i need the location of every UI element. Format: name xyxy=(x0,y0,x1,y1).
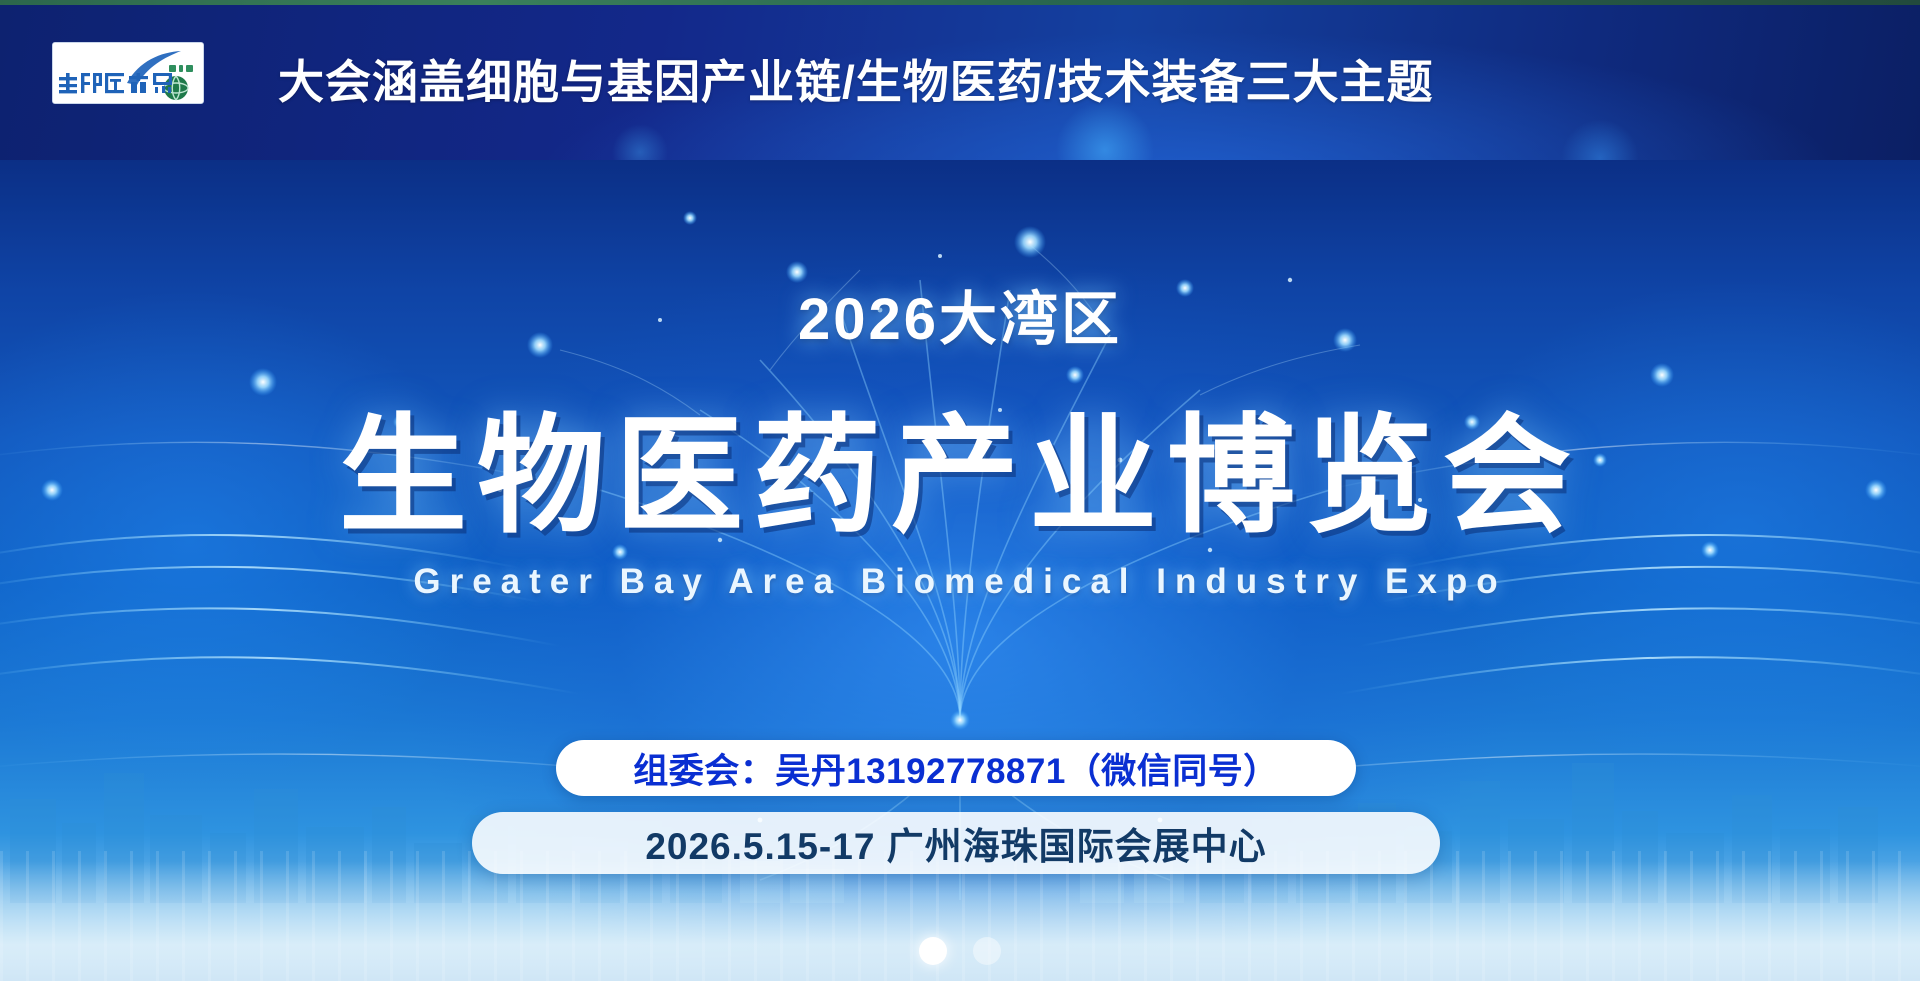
banner-carousel: 大会涵盖细胞与基因产业链/生物医药/技术装备三大主题 xyxy=(0,0,1920,981)
biomedical-expo-logo[interactable] xyxy=(52,42,204,104)
event-date-venue-pill[interactable]: 2026.5.15-17 广州海珠国际会展中心 xyxy=(472,812,1440,874)
carousel-dots xyxy=(0,937,1920,965)
top-accent-line xyxy=(0,0,1920,5)
carousel-dot-1[interactable] xyxy=(919,937,947,965)
top-banner-title: 大会涵盖细胞与基因产业链/生物医药/技术装备三大主题 xyxy=(278,50,1434,114)
organizer-contact-text: 组委会：吴丹13192778871（微信同号） xyxy=(633,743,1279,794)
hero-english-subtitle: Greater Bay Area Biomedical Industry Exp… xyxy=(0,560,1920,604)
event-date-venue-text: 2026.5.15-17 广州海珠国际会展中心 xyxy=(645,816,1266,870)
organizer-contact-pill[interactable]: 组委会：吴丹13192778871（微信同号） xyxy=(556,740,1356,796)
top-banner-strip: 大会涵盖细胞与基因产业链/生物医药/技术装备三大主题 xyxy=(0,0,1920,160)
hero-main-title: 生物医药产业博览会 xyxy=(0,402,1920,552)
carousel-dot-2[interactable] xyxy=(973,937,1001,965)
hero-year-label: 2026大湾区 xyxy=(0,285,1920,355)
